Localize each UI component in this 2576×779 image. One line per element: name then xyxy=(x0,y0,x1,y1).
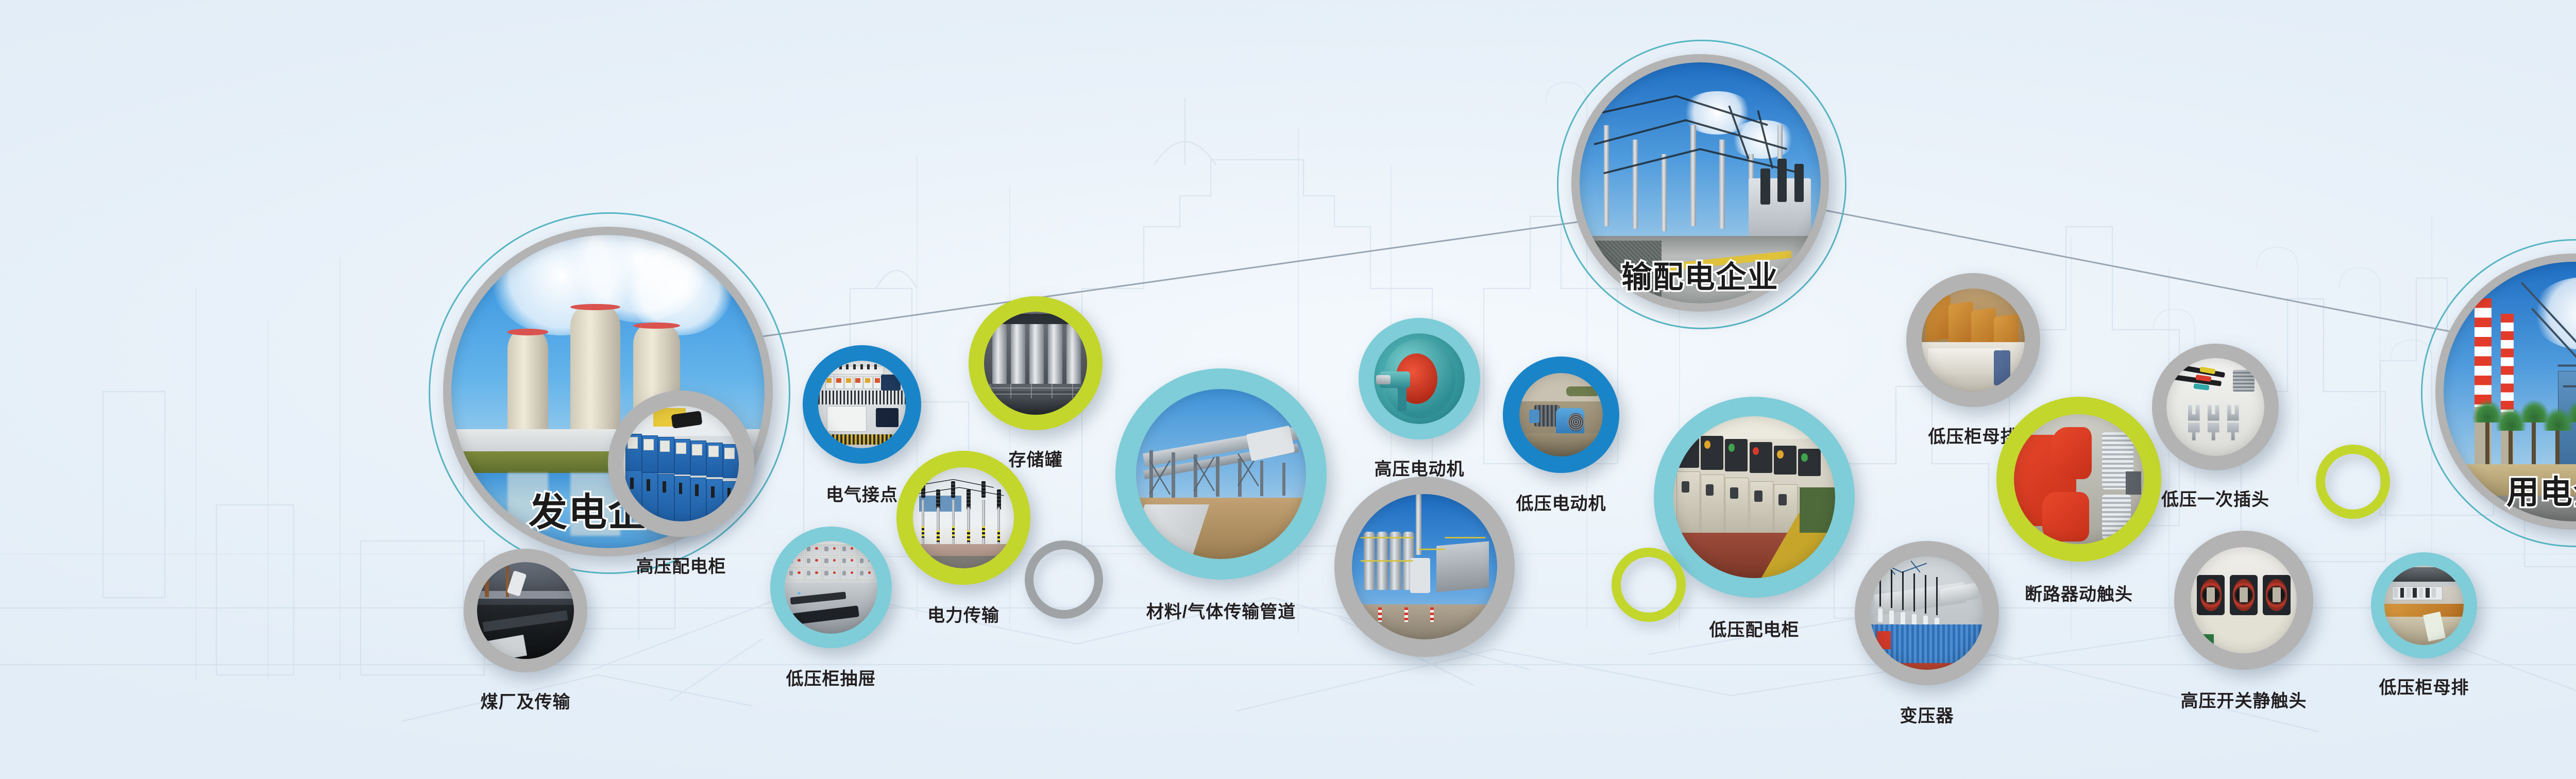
node-photo xyxy=(2384,566,2464,645)
node-photo-ring xyxy=(464,549,587,672)
node-caption: 低压柜母排 xyxy=(2379,673,2469,699)
node-photo-ring xyxy=(1334,477,1515,657)
node-photo-ring xyxy=(1503,357,1619,473)
node-coal-plant-transport[interactable]: 煤厂及传输 xyxy=(464,549,587,672)
node-photo-ring xyxy=(1906,273,2040,407)
node-photo xyxy=(984,312,1087,415)
node-hv-distribution-cabinet[interactable]: 高压配电柜 xyxy=(608,391,754,537)
node-lv-cabinet-busbar-b[interactable]: 低压柜母排 xyxy=(2371,552,2477,658)
node-caption: 低压电动机 xyxy=(1516,489,1606,515)
node-caption: 煤厂及传输 xyxy=(481,688,571,713)
connector-path xyxy=(737,216,1618,340)
node-photo xyxy=(2191,547,2297,653)
node-photo-ring xyxy=(1996,397,2161,562)
node-photo-ring xyxy=(1855,541,1999,685)
node-photo xyxy=(913,467,1014,568)
node-photo-ring xyxy=(1359,318,1480,439)
node-lv-primary-plug[interactable]: 低压一次插头 xyxy=(2152,344,2279,470)
node-caption: 存储罐 xyxy=(1009,446,1063,471)
decorative-ring xyxy=(1612,548,1686,622)
node-caption: 低压一次插头 xyxy=(2161,485,2269,511)
node-photo xyxy=(1870,556,1984,670)
connector-path xyxy=(1803,206,2468,335)
node-caption: 高压开关静触头 xyxy=(2181,687,2307,712)
infographic-canvas: 发电企业 输配电企业 用电企业煤厂及传输高压配电柜低压柜抽屉电气接点电力传输存储… xyxy=(0,0,2576,779)
node-photo xyxy=(1519,373,1603,456)
decorative-ring xyxy=(2316,445,2390,519)
node-caption: 低压柜抽屉 xyxy=(786,665,876,690)
node-photo-ring xyxy=(803,345,921,464)
node-photo xyxy=(1374,333,1465,424)
node-photo xyxy=(2166,358,2264,456)
node-lv-cabinet-busbar-a[interactable]: 低压柜母排 xyxy=(1906,273,2040,407)
decorative-ring-empty-ring-green-right xyxy=(2316,445,2390,519)
hero-node-power-consumption[interactable]: 用电企业 xyxy=(2435,253,2576,530)
node-photo xyxy=(818,361,906,448)
node-storage-tank[interactable]: 存储罐 xyxy=(969,296,1103,430)
hero-title: 输配电企业 xyxy=(1621,252,1778,296)
node-photo-ring xyxy=(2174,531,2313,670)
decorative-ring-empty-ring-gray xyxy=(1025,540,1103,619)
node-photo xyxy=(1352,494,1497,639)
node-photo-ring xyxy=(896,451,1030,585)
node-breaker-moving-contact[interactable]: 断路器动触头 xyxy=(1996,397,2161,562)
node-photo-ring xyxy=(1115,368,1327,580)
node-caption: 变压器 xyxy=(1900,702,1954,727)
node-material-gas-pipeline[interactable]: 材料/气体传输管道 xyxy=(1115,368,1327,580)
node-power-transmission[interactable]: 电力传输 xyxy=(896,451,1030,585)
hero-title: 用电企业 xyxy=(2506,466,2576,513)
node-photo-ring xyxy=(2152,344,2279,470)
node-caption: 低压配电柜 xyxy=(1709,616,1800,641)
decorative-ring-empty-ring-green-left xyxy=(1612,548,1686,622)
node-hv-switch-static-contact[interactable]: 高压开关静触头 xyxy=(2174,531,2313,670)
node-photo xyxy=(785,541,877,634)
node-caption: 断路器动触头 xyxy=(2025,580,2133,605)
node-caption: 高压电动机 xyxy=(1375,455,1465,480)
node-lv-cabinet-drawer[interactable]: 低压柜抽屉 xyxy=(770,527,892,648)
node-transformer[interactable]: 变压器 xyxy=(1855,541,1999,685)
node-caption: 电气接点 xyxy=(826,481,898,506)
node-caption: 高压配电柜 xyxy=(636,552,726,578)
node-electrical-contacts[interactable]: 电气接点 xyxy=(803,345,921,464)
decorative-ring xyxy=(1025,540,1103,619)
node-photo xyxy=(1136,389,1306,559)
node-hv-motor[interactable]: 高压电动机 xyxy=(1359,318,1480,439)
node-photo xyxy=(1922,289,2025,392)
node-photo-ring xyxy=(608,391,754,537)
node-photo xyxy=(477,562,574,659)
node-caption: 材料/气体传输管道 xyxy=(1146,598,1296,623)
node-photo-ring xyxy=(770,527,892,648)
node-chem-plant[interactable] xyxy=(1334,477,1515,657)
node-photo-ring xyxy=(969,296,1103,430)
node-photo xyxy=(623,406,739,521)
node-photo xyxy=(1673,416,1835,578)
node-caption: 电力传输 xyxy=(927,601,999,626)
node-photo-ring xyxy=(2371,552,2477,658)
node-lv-motor[interactable]: 低压电动机 xyxy=(1503,357,1619,473)
node-photo xyxy=(2014,414,2144,544)
hero-node-transmission-distribution[interactable]: 输配电企业 xyxy=(1571,54,1829,312)
